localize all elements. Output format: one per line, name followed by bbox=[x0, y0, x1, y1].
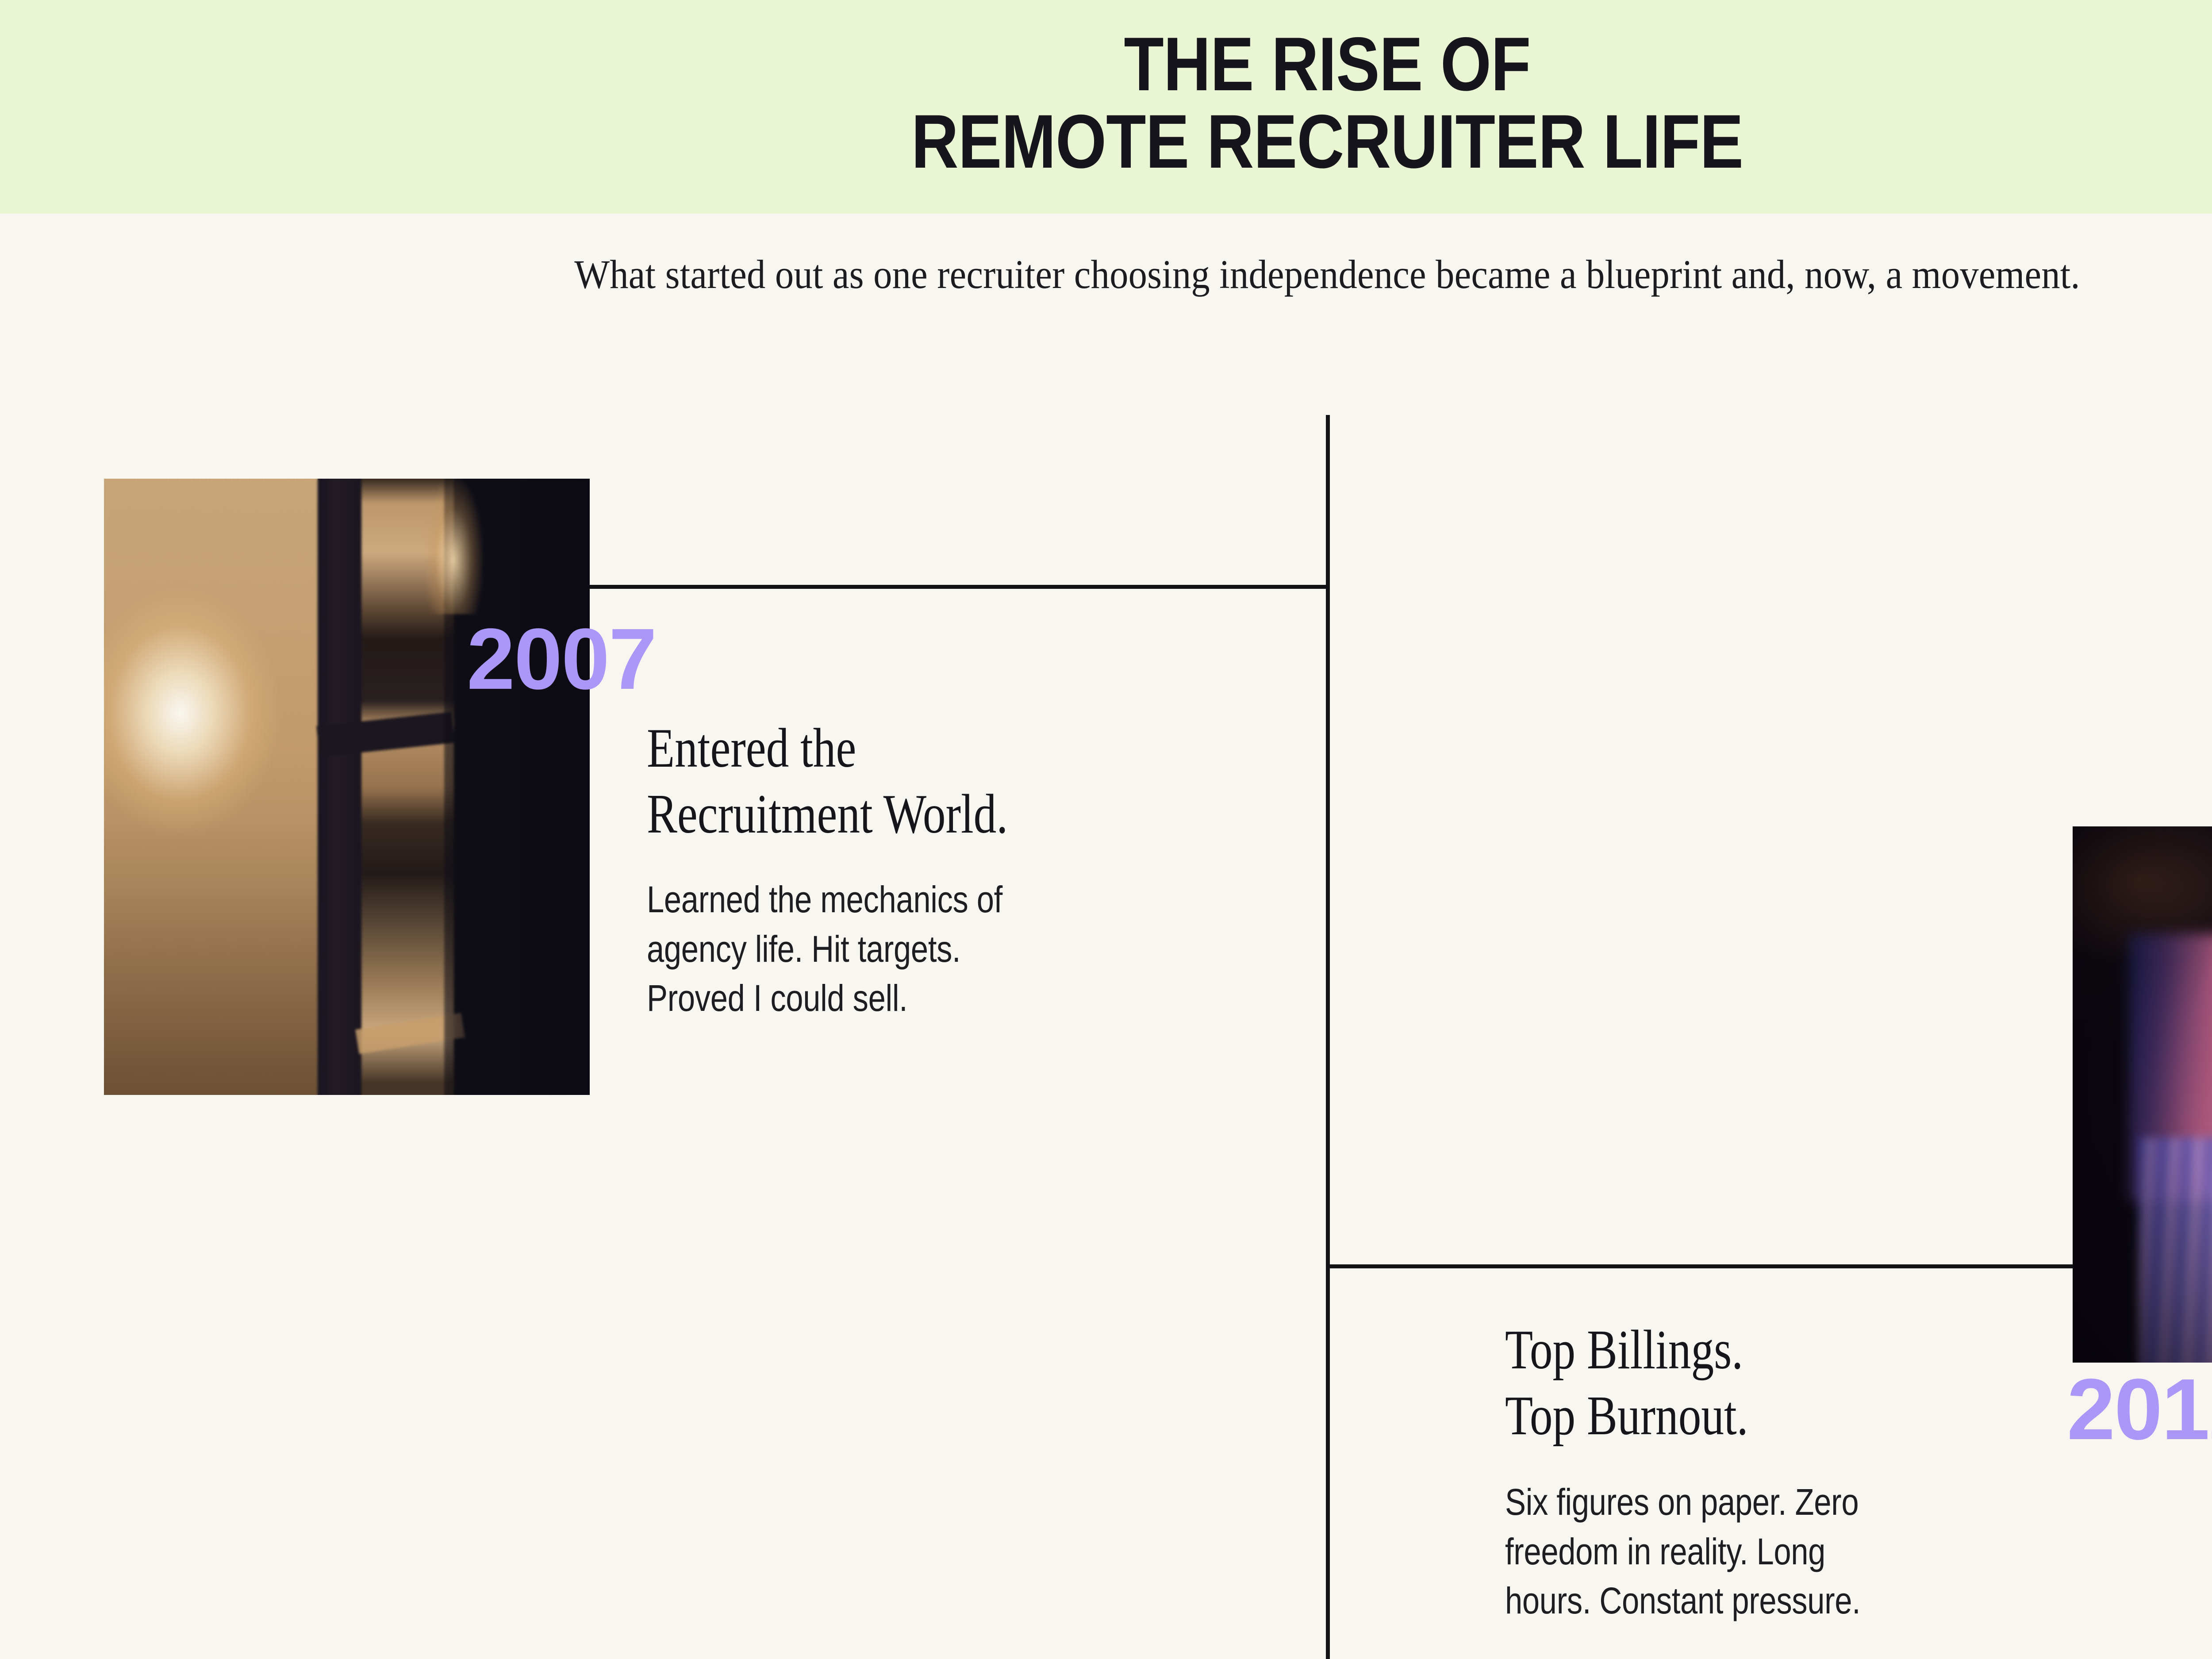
year-label-2007: 2007 bbox=[467, 616, 656, 703]
entry-body-2007-line-3: Proved I could sell. bbox=[647, 974, 1002, 1023]
page-title-line-2: REMOTE RECRUITER LIFE bbox=[186, 103, 2212, 180]
entry-heading-2007: Entered the Recruitment World. bbox=[647, 716, 1008, 847]
entry-body-2012-line-2: freedom in reality. Long bbox=[1505, 1527, 1860, 1577]
timeline-spine bbox=[1326, 415, 1330, 1659]
page-title: THE RISE OF REMOTE RECRUITER LIFE bbox=[186, 26, 2212, 181]
entry-heading-2012-line-1: Top Billings. bbox=[1505, 1317, 1748, 1383]
photo-blur-overlay bbox=[104, 479, 590, 1095]
timeline-photo-2012 bbox=[2073, 826, 2212, 1363]
timeline-branch-2007 bbox=[553, 585, 1328, 589]
header-band: THE RISE OF REMOTE RECRUITER LIFE bbox=[0, 0, 2212, 214]
entry-body-2007: Learned the mechanics of agency life. Hi… bbox=[647, 875, 1002, 1023]
entry-body-2012-line-1: Six figures on paper. Zero bbox=[1505, 1478, 1860, 1527]
entry-body-2007-line-2: agency life. Hit targets. bbox=[647, 925, 1002, 974]
entry-body-2007-line-1: Learned the mechanics of bbox=[647, 875, 1002, 925]
portrait-vignette bbox=[2073, 826, 2212, 1363]
timeline-photo-2007 bbox=[104, 479, 590, 1095]
entry-body-2012: Six figures on paper. Zero freedom in re… bbox=[1505, 1478, 1860, 1626]
year-label-2012: 2012 bbox=[2067, 1366, 2212, 1453]
entry-heading-2012-line-2: Top Burnout. bbox=[1505, 1383, 1748, 1449]
entry-body-2012-line-3: hours. Constant pressure. bbox=[1505, 1576, 1860, 1626]
entry-heading-2012: Top Billings. Top Burnout. bbox=[1505, 1317, 1748, 1449]
entry-heading-2007-line-2: Recruitment World. bbox=[647, 782, 1008, 848]
page-title-line-1: THE RISE OF bbox=[186, 26, 2212, 103]
entry-heading-2007-line-1: Entered the bbox=[647, 716, 1008, 782]
timeline-branch-2012 bbox=[1326, 1264, 2078, 1268]
infographic-canvas: THE RISE OF REMOTE RECRUITER LIFE What s… bbox=[0, 0, 2212, 1659]
page-subtitle: What started out as one recruiter choosi… bbox=[106, 250, 2212, 299]
